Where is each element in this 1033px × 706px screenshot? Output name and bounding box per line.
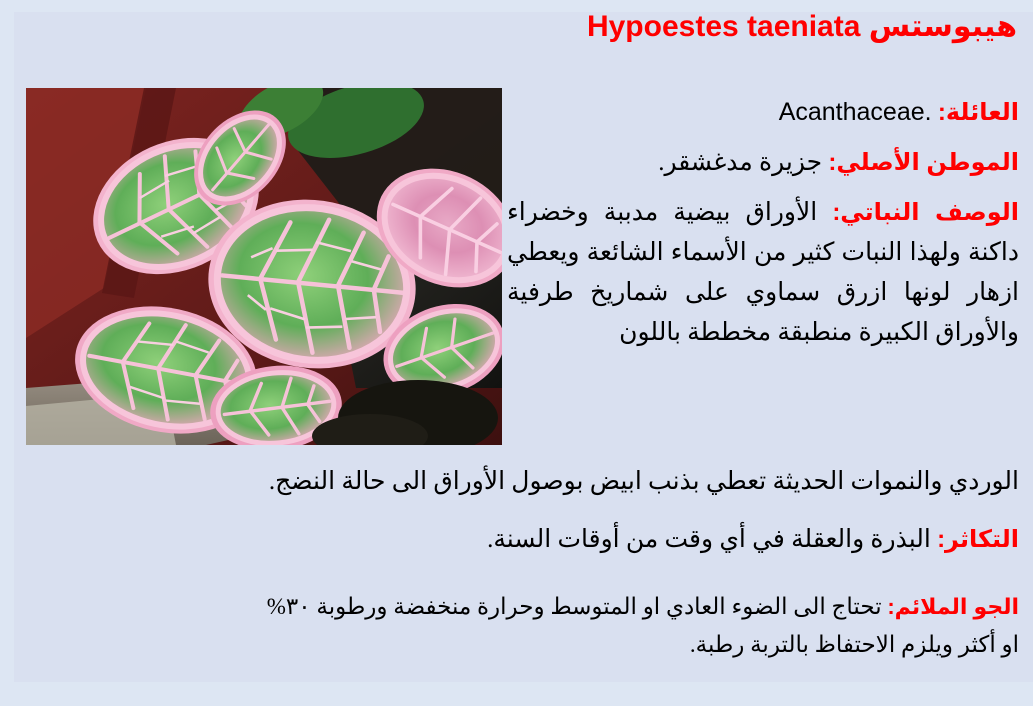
section-climate-line1: الجو الملائم: تحتاج الى الضوء العادي او … [0,588,1019,626]
section-family: العائلة: Acanthaceae. [507,92,1019,133]
page-title-text: هيبوستس Hypoestes taeniata [587,10,1017,43]
section-description-continued: الوردي والنموات الحديثة تعطي بذنب ابيض ب… [14,462,1019,502]
plant-photo-image [26,88,502,445]
section-climate-label: الجو الملائم: [887,594,1019,619]
section-origin: الموطن الأصلي: جزيرة مدغشقر. [507,143,1019,183]
section-propagation: التكاثر: البذرة والعقلة في أي وقت من أوق… [14,520,1019,560]
section-propagation-label: التكاثر: [937,526,1019,553]
slide-root: هيبوستس Hypoestes taeniata [0,0,1033,706]
section-description-label: الوصف النباتي: [832,199,1019,226]
section-propagation-line: التكاثر: البذرة والعقلة في أي وقت من أوق… [14,520,1019,560]
section-family-label: العائلة: [938,99,1019,126]
section-climate-value-1: تحتاج الى الضوء العادي او المتوسط وحرارة… [267,594,882,619]
section-origin-value: جزيرة مدغشقر. [658,149,822,176]
section-propagation-value: البذرة والعقلة في أي وقت من أوقات السنة. [487,526,931,553]
section-climate-line2: او أكثر ويلزم الاحتفاظ بالتربة رطبة. [0,626,1019,664]
section-climate: الجو الملائم: تحتاج الى الضوء العادي او … [0,588,1019,664]
section-origin-label: الموطن الأصلي: [828,149,1019,176]
info-text-column: العائلة: Acanthaceae. الموطن الأصلي: جزي… [507,92,1019,365]
page-title: هيبوستس Hypoestes taeniata [17,8,1017,46]
plant-photo [26,88,502,445]
section-family-value: Acanthaceae. [779,98,932,126]
section-description-tail-text: الوردي والنموات الحديثة تعطي بذنب ابيض ب… [14,462,1019,502]
slide-content: هيبوستس Hypoestes taeniata [0,0,1033,706]
section-description: الوصف النباتي: الأوراق بيضية مدببة وخضرا… [507,193,1019,353]
